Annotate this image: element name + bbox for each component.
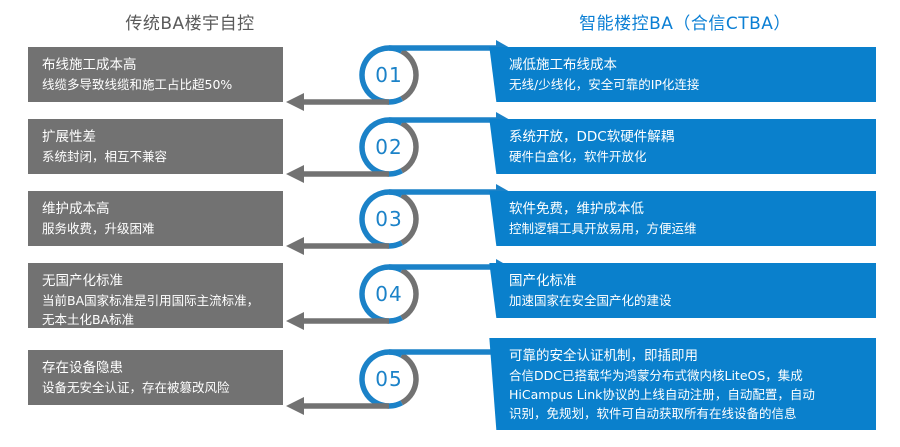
solution-box-04: 国产化标准加速国家在安全国产化的建设	[487, 263, 876, 318]
problem-detail-line: 当前BA国家标准是引用国际主流标准，	[42, 291, 273, 310]
problem-text: 扩展性差系统封闭，相互不兼容	[42, 128, 273, 166]
problem-title: 存在设备隐患	[42, 359, 273, 378]
solution-text: 国产化标准加速国家在安全国产化的建设	[509, 272, 866, 310]
solution-title: 国产化标准	[509, 272, 866, 291]
problem-text: 布线施工成本高线缆多导致线缆和施工占比超50%	[42, 56, 273, 94]
problem-box-05: 存在设备隐患设备无安全认证，存在被篡改风险	[28, 350, 283, 405]
return-arrowhead-03	[286, 237, 304, 255]
problem-title: 无国产化标准	[42, 272, 273, 291]
solution-box-05: 可靠的安全认证机制，即插即用合信DDC已搭载华为鸿蒙分布式微内核LiteOS，集…	[487, 338, 876, 430]
solution-detail-line: 识别，免规划，软件可自动获取所有在线设备的信息	[509, 404, 866, 423]
problem-box-02: 扩展性差系统封闭，相互不兼容	[28, 119, 283, 174]
problem-title: 布线施工成本高	[42, 56, 273, 75]
problem-text: 无国产化标准当前BA国家标准是引用国际主流标准，无本土化BA标准	[42, 272, 273, 329]
step-number-05: 05	[359, 369, 419, 389]
problem-detail-line: 无本土化BA标准	[42, 310, 273, 329]
solution-detail-line: HiCampus Link协议的上线自动注册，自动配置，自动	[509, 385, 866, 404]
solution-text: 可靠的安全认证机制，即插即用合信DDC已搭载华为鸿蒙分布式微内核LiteOS，集…	[509, 347, 866, 423]
step-number-01: 01	[359, 65, 419, 85]
solution-text: 系统开放，DDC软硬件解耦硬件白盒化，软件开放化	[509, 128, 866, 166]
solution-box-03: 软件免费，维护成本低控制逻辑工具开放易用，方便运维	[487, 191, 876, 246]
solution-title: 可靠的安全认证机制，即插即用	[509, 347, 866, 366]
problem-box-04: 无国产化标准当前BA国家标准是引用国际主流标准，无本土化BA标准	[28, 263, 283, 328]
diagram-canvas: 传统BA楼宇自控 智能楼控BA（合信CTBA） 布线施工成本高线缆多导致线缆和施…	[0, 0, 900, 447]
solution-detail-line: 控制逻辑工具开放易用，方便运维	[509, 219, 866, 238]
solution-detail-line: 无线/少线化，安全可靠的IP化连接	[509, 75, 866, 94]
problem-detail-line: 设备无安全认证，存在被篡改风险	[42, 378, 273, 397]
problem-title: 维护成本高	[42, 200, 273, 219]
step-number-04: 04	[359, 284, 419, 304]
solution-box-02: 系统开放，DDC软硬件解耦硬件白盒化，软件开放化	[487, 119, 876, 174]
solution-detail-line: 合信DDC已搭载华为鸿蒙分布式微内核LiteOS，集成	[509, 366, 866, 385]
left-column-title: 传统BA楼宇自控	[0, 16, 380, 33]
solution-box-01: 减低施工布线成本无线/少线化，安全可靠的IP化连接	[487, 47, 876, 102]
problem-text: 存在设备隐患设备无安全认证，存在被篡改风险	[42, 359, 273, 397]
solution-text: 减低施工布线成本无线/少线化，安全可靠的IP化连接	[509, 56, 866, 94]
problem-box-01: 布线施工成本高线缆多导致线缆和施工占比超50%	[28, 47, 283, 102]
solution-title: 系统开放，DDC软硬件解耦	[509, 128, 866, 147]
solution-text: 软件免费，维护成本低控制逻辑工具开放易用，方便运维	[509, 200, 866, 238]
problem-title: 扩展性差	[42, 128, 273, 147]
solution-detail-line: 加速国家在安全国产化的建设	[509, 291, 866, 310]
return-arrowhead-01	[286, 93, 304, 111]
problem-box-03: 维护成本高服务收费，升级困难	[28, 191, 283, 246]
problem-detail-line: 服务收费，升级困难	[42, 219, 273, 238]
return-arrowhead-02	[286, 165, 304, 183]
solution-detail-line: 硬件白盒化，软件开放化	[509, 147, 866, 166]
right-column-title: 智能楼控BA（合信CTBA）	[490, 16, 880, 33]
return-arrowhead-05	[286, 397, 304, 415]
problem-detail-line: 线缆多导致线缆和施工占比超50%	[42, 75, 273, 94]
return-arrowhead-04	[286, 312, 304, 330]
step-number-02: 02	[359, 137, 419, 157]
problem-detail-line: 系统封闭，相互不兼容	[42, 147, 273, 166]
solution-title: 软件免费，维护成本低	[509, 200, 866, 219]
problem-text: 维护成本高服务收费，升级困难	[42, 200, 273, 238]
step-number-03: 03	[359, 209, 419, 229]
solution-title: 减低施工布线成本	[509, 56, 866, 75]
